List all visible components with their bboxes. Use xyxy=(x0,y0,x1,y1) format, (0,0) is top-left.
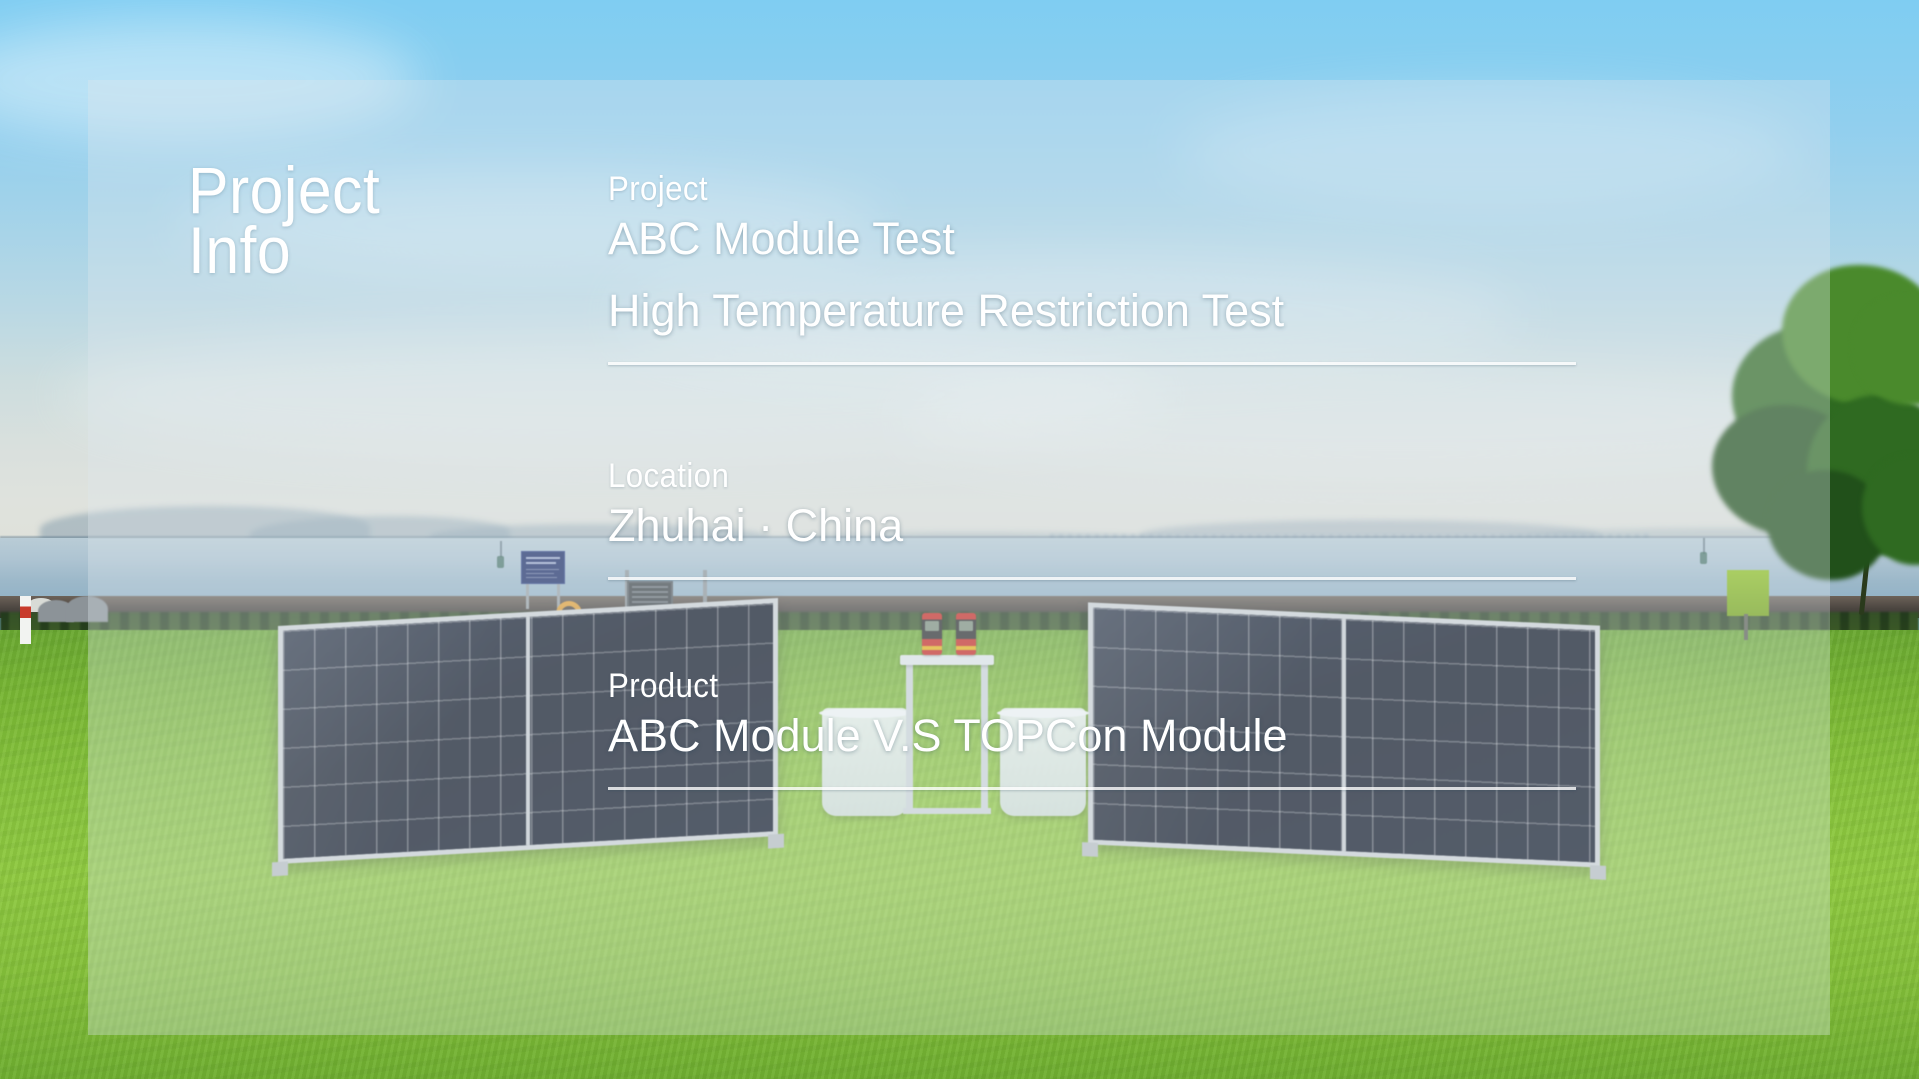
field-value-product: ABC Module V.S TOPCon Module xyxy=(608,707,1576,765)
field-project: Project ABC Module Test High Temperature… xyxy=(608,168,1576,365)
field-location: Location Zhuhai · China xyxy=(608,455,1576,580)
field-value-project-subtitle: High Temperature Restriction Test xyxy=(608,282,1576,340)
field-label-product: Product xyxy=(608,665,718,707)
page-title-line-2: Info xyxy=(188,220,380,280)
screenshot-root: Project Info Project ABC Module Test Hig… xyxy=(0,0,1919,1079)
field-label-location: Location xyxy=(608,455,729,497)
field-value-project: ABC Module Test xyxy=(608,210,1576,268)
field-product: Product ABC Module V.S TOPCon Module xyxy=(608,665,1576,790)
field-label-project: Project xyxy=(608,168,708,210)
divider-location xyxy=(608,577,1576,580)
divider-product xyxy=(608,787,1576,790)
divider-project xyxy=(608,362,1576,365)
page-title: Project Info xyxy=(188,160,380,280)
field-value-location: Zhuhai · China xyxy=(608,497,1576,555)
red-white-marker-post xyxy=(20,596,31,644)
page-title-line-1: Project xyxy=(188,160,380,220)
